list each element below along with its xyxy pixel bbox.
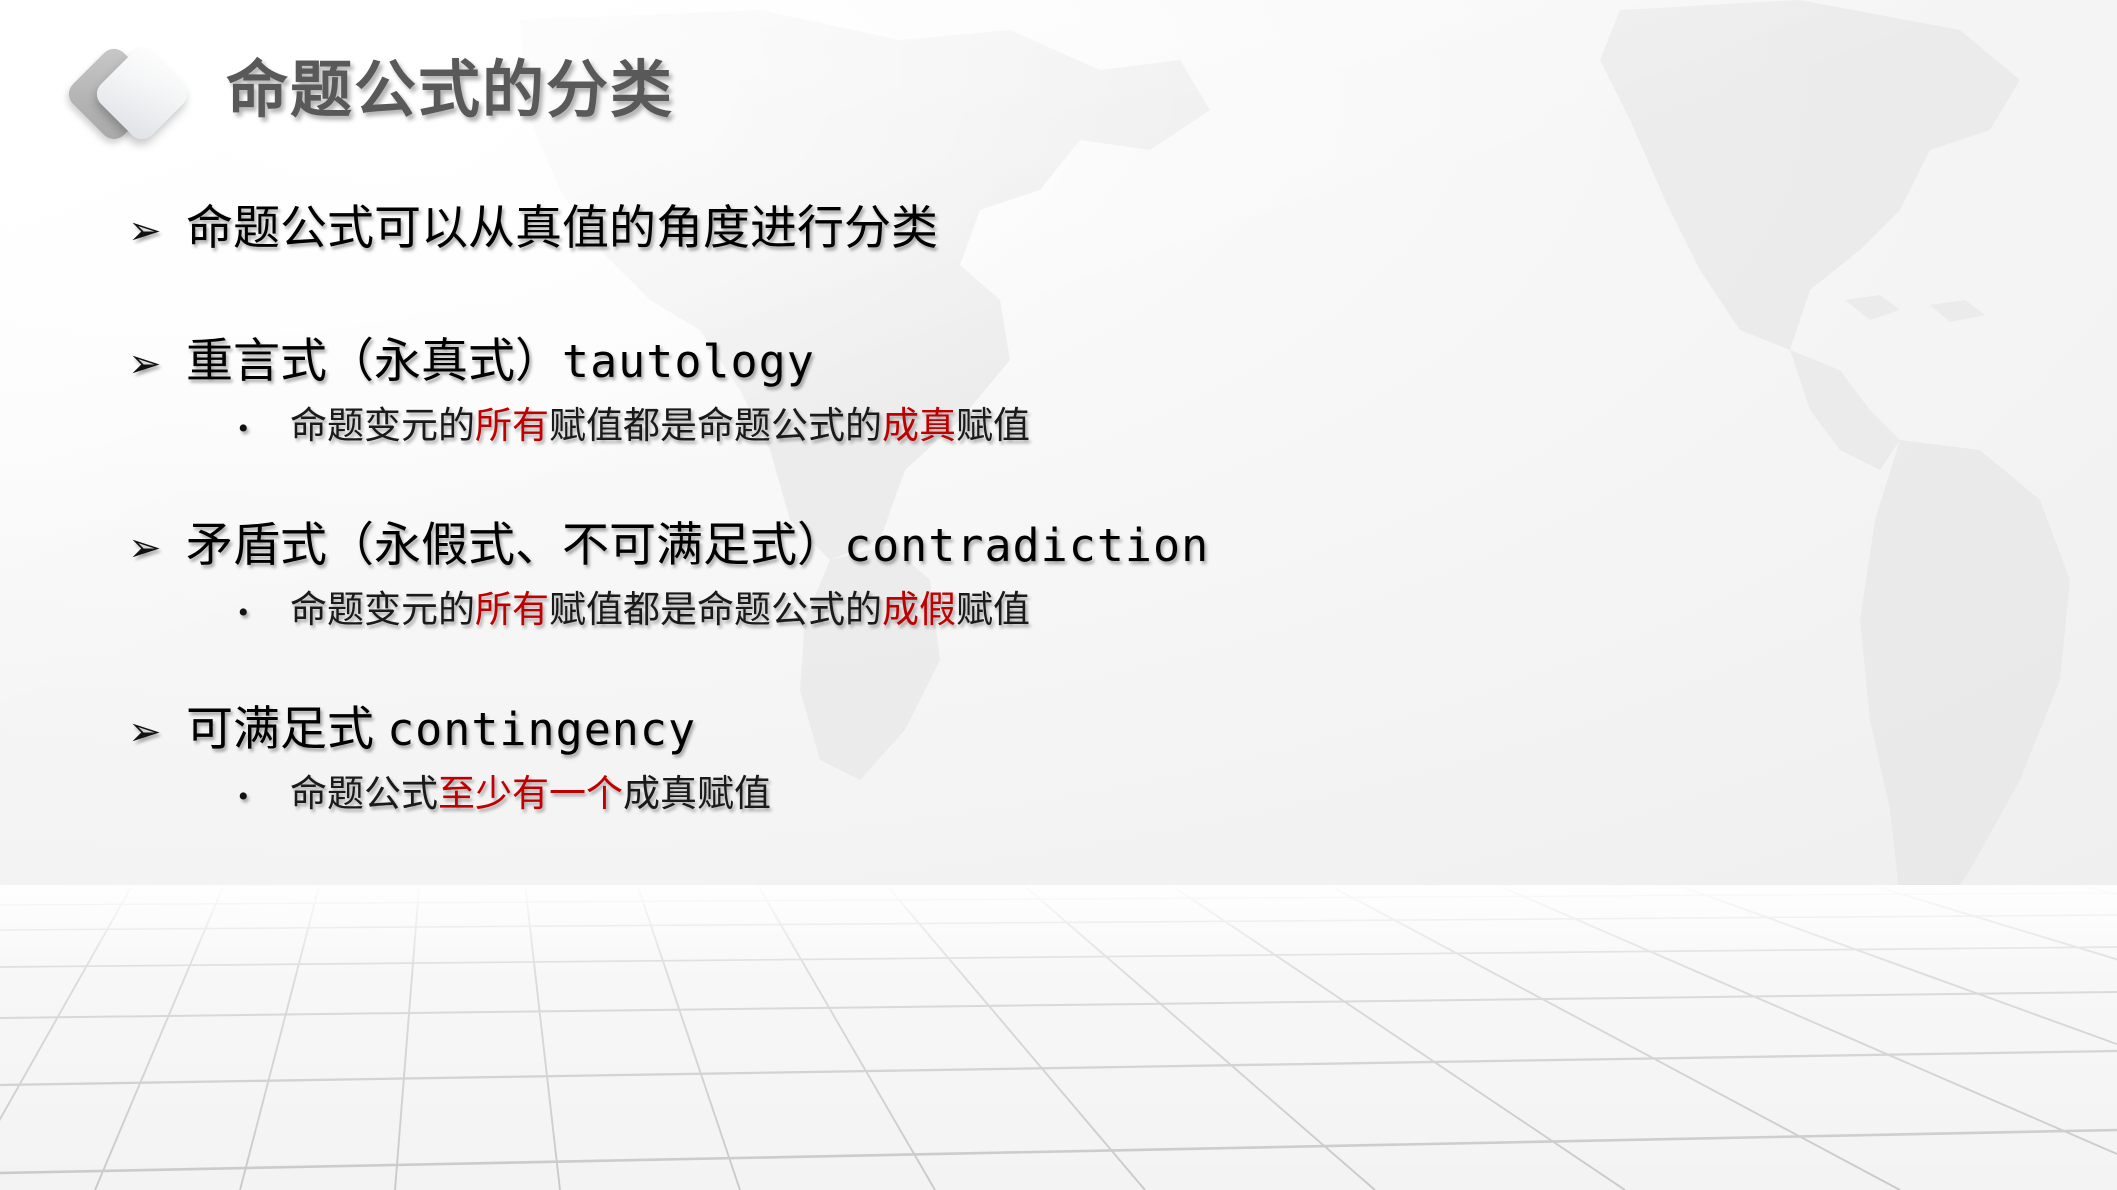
bullet-level1-cn: 重言式（永真式） xyxy=(186,334,562,387)
bullet-level1-cn: 命题公式可以从真值的角度进行分类 xyxy=(186,201,938,254)
sub-text-highlight: 所有 xyxy=(475,590,549,631)
sub-text-highlight: 至少有一个 xyxy=(438,774,623,815)
dot-bullet-icon: • xyxy=(238,598,290,628)
bullet-level1: ➢ 可满足式 contingency xyxy=(128,701,2008,756)
arrow-bullet-icon: ➢ xyxy=(128,712,186,752)
bullet-level1-cn: 可满足式 xyxy=(186,702,387,755)
perspective-grid xyxy=(0,885,2117,1190)
sub-text-part: 赋值 xyxy=(956,590,1030,631)
slide-body: ➢ 命题公式可以从真值的角度进行分类 ➢ 重言式（永真式）tautology •… xyxy=(128,200,2008,817)
sub-text-part: 赋值 xyxy=(956,406,1030,447)
bullet-level2: • 命题变元的所有赋值都是命题公式的成假赋值 xyxy=(238,589,2008,633)
sub-text-part: 赋值都是命题公式的 xyxy=(549,406,882,447)
bullet-level1-en: contingency xyxy=(387,703,696,756)
sub-text-part: 赋值都是命题公式的 xyxy=(549,590,882,631)
bullet-level1: ➢ 重言式（永真式）tautology xyxy=(128,333,2008,388)
sub-text-highlight: 成真 xyxy=(882,406,956,447)
bullet-level1: ➢ 命题公式可以从真值的角度进行分类 xyxy=(128,200,2008,255)
bullet-group-4: ➢ 可满足式 contingency • 命题公式至少有一个成真赋值 xyxy=(128,701,2008,817)
sub-text-part: 命题变元的 xyxy=(290,406,475,447)
sub-text-part: 成真赋值 xyxy=(623,774,771,815)
bullet-level1-en: tautology xyxy=(562,335,815,388)
bullet-group-3: ➢ 矛盾式（永假式、不可满足式）contradiction • 命题变元的所有赋… xyxy=(128,517,2008,633)
spacer xyxy=(128,449,2008,517)
slide: 命题公式的分类 ➢ 命题公式可以从真值的角度进行分类 ➢ 重言式（永真式）tau… xyxy=(0,0,2117,1190)
page-title: 命题公式的分类 xyxy=(226,60,674,128)
bullet-group-1: ➢ 命题公式可以从真值的角度进行分类 xyxy=(128,200,2008,255)
diamond-pair-icon xyxy=(72,38,202,150)
sub-text-highlight: 所有 xyxy=(475,406,549,447)
dot-bullet-icon: • xyxy=(238,782,290,812)
spacer xyxy=(128,633,2008,701)
bullet-group-2: ➢ 重言式（永真式）tautology • 命题变元的所有赋值都是命题公式的成真… xyxy=(128,333,2008,449)
slide-title-row: 命题公式的分类 xyxy=(72,34,674,154)
spacer xyxy=(128,255,2008,333)
dot-bullet-icon: • xyxy=(238,414,290,444)
sub-text-part: 命题变元的 xyxy=(290,590,475,631)
bullet-level1-cn: 矛盾式（永假式、不可满足式） xyxy=(186,518,844,571)
sub-text-part: 命题公式 xyxy=(290,774,438,815)
bullet-level1: ➢ 矛盾式（永假式、不可满足式）contradiction xyxy=(128,517,2008,572)
arrow-bullet-icon: ➢ xyxy=(128,211,186,251)
arrow-bullet-icon: ➢ xyxy=(128,528,186,568)
bullet-level1-en: contradiction xyxy=(844,519,1209,572)
bullet-level2: • 命题变元的所有赋值都是命题公式的成真赋值 xyxy=(238,405,2008,449)
sub-text-highlight: 成假 xyxy=(882,590,956,631)
bullet-level2: • 命题公式至少有一个成真赋值 xyxy=(238,773,2008,817)
arrow-bullet-icon: ➢ xyxy=(128,344,186,384)
